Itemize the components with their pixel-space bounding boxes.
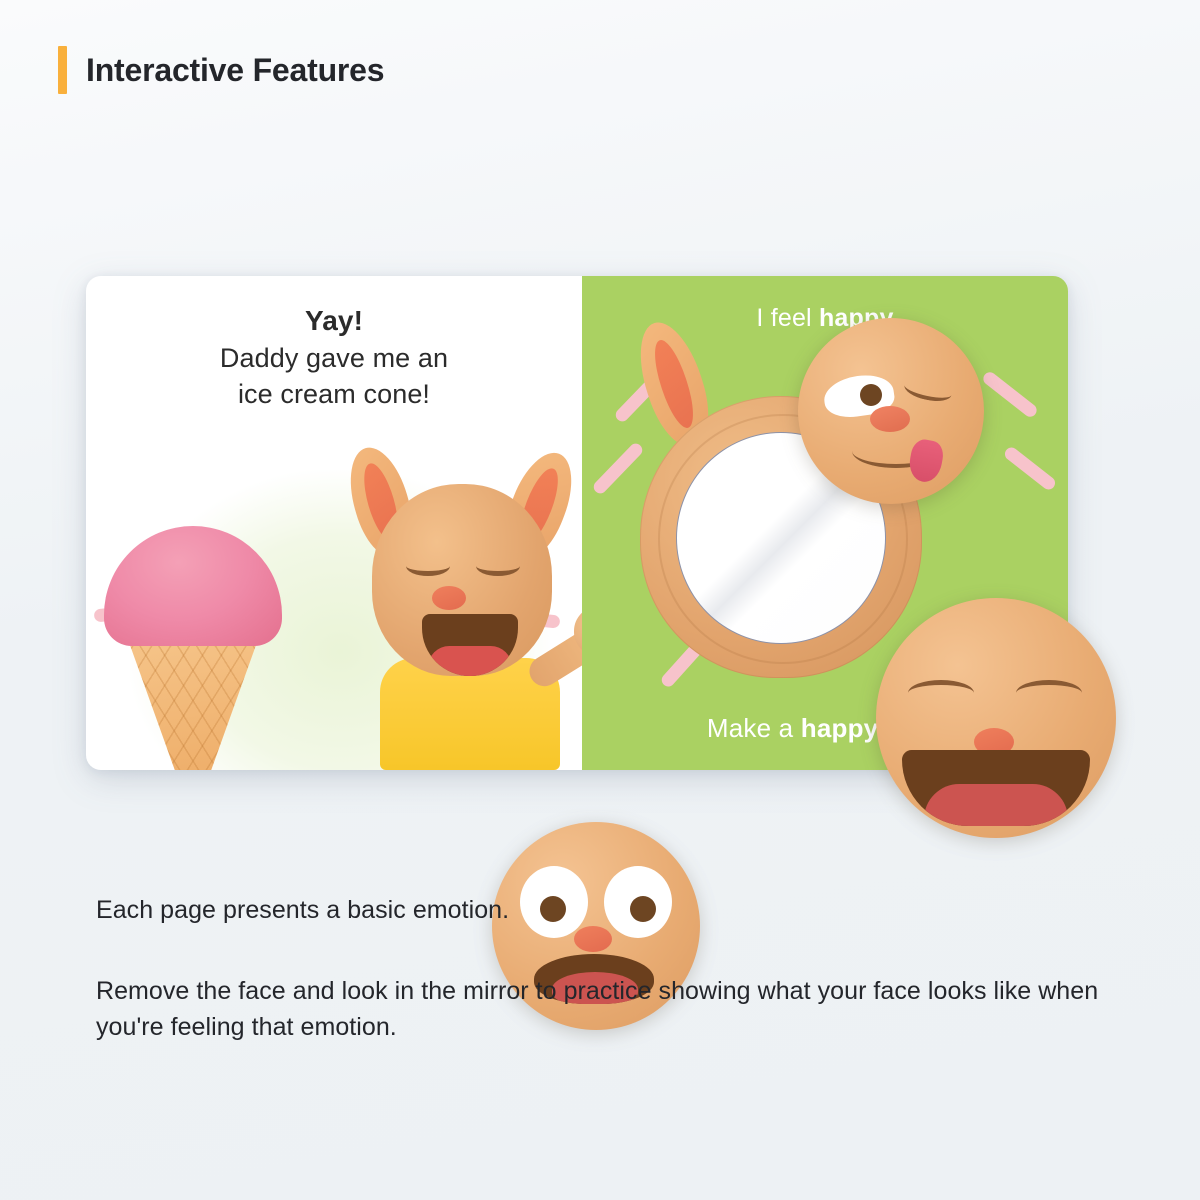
closed-eye-right-icon — [1016, 680, 1082, 706]
bunny-character — [312, 430, 582, 770]
description-block: Each page presents a basic emotion. Remo… — [96, 892, 1126, 1046]
open-mouth-icon — [902, 750, 1090, 826]
bunny-eye-left-icon — [406, 556, 450, 576]
page-title: Interactive Features — [86, 54, 384, 86]
sparkle-line — [981, 370, 1039, 420]
waffle-cone — [126, 634, 260, 770]
winking-eye-icon — [902, 375, 953, 405]
left-page-line-2: ice cream cone! — [86, 376, 582, 412]
description-paragraph-2: Remove the face and look in the mirror t… — [96, 973, 1126, 1046]
section-header: Interactive Features — [58, 46, 384, 94]
strawberry-scoop — [104, 526, 282, 646]
sparkle-line — [1002, 445, 1057, 492]
closed-eye-left-icon — [908, 680, 974, 706]
pupil-icon — [860, 384, 882, 406]
left-page-text: Yay! Daddy gave me an ice cream cone! — [86, 302, 582, 412]
accent-bar — [58, 46, 67, 94]
right-page-bottom-prefix: Make a — [707, 713, 801, 743]
winking-face-piece[interactable] — [798, 318, 984, 504]
book-left-page: Yay! Daddy gave me an ice cream cone! — [86, 276, 582, 770]
right-page-bottom-emotion: happy — [801, 713, 879, 743]
laughing-face-piece[interactable] — [876, 598, 1116, 838]
description-paragraph-1: Each page presents a basic emotion. — [96, 892, 1126, 929]
ice-cream-cone-icon — [104, 526, 284, 770]
bunny-eye-right-icon — [476, 556, 520, 576]
nose-icon — [870, 406, 910, 432]
product-image: Yay! Daddy gave me an ice cream cone! — [0, 150, 1200, 890]
bunny-nose-icon — [432, 586, 466, 610]
left-page-exclamation: Yay! — [86, 302, 582, 340]
left-page-line-1: Daddy gave me an — [86, 340, 582, 376]
bunny-mouth-icon — [422, 614, 518, 676]
